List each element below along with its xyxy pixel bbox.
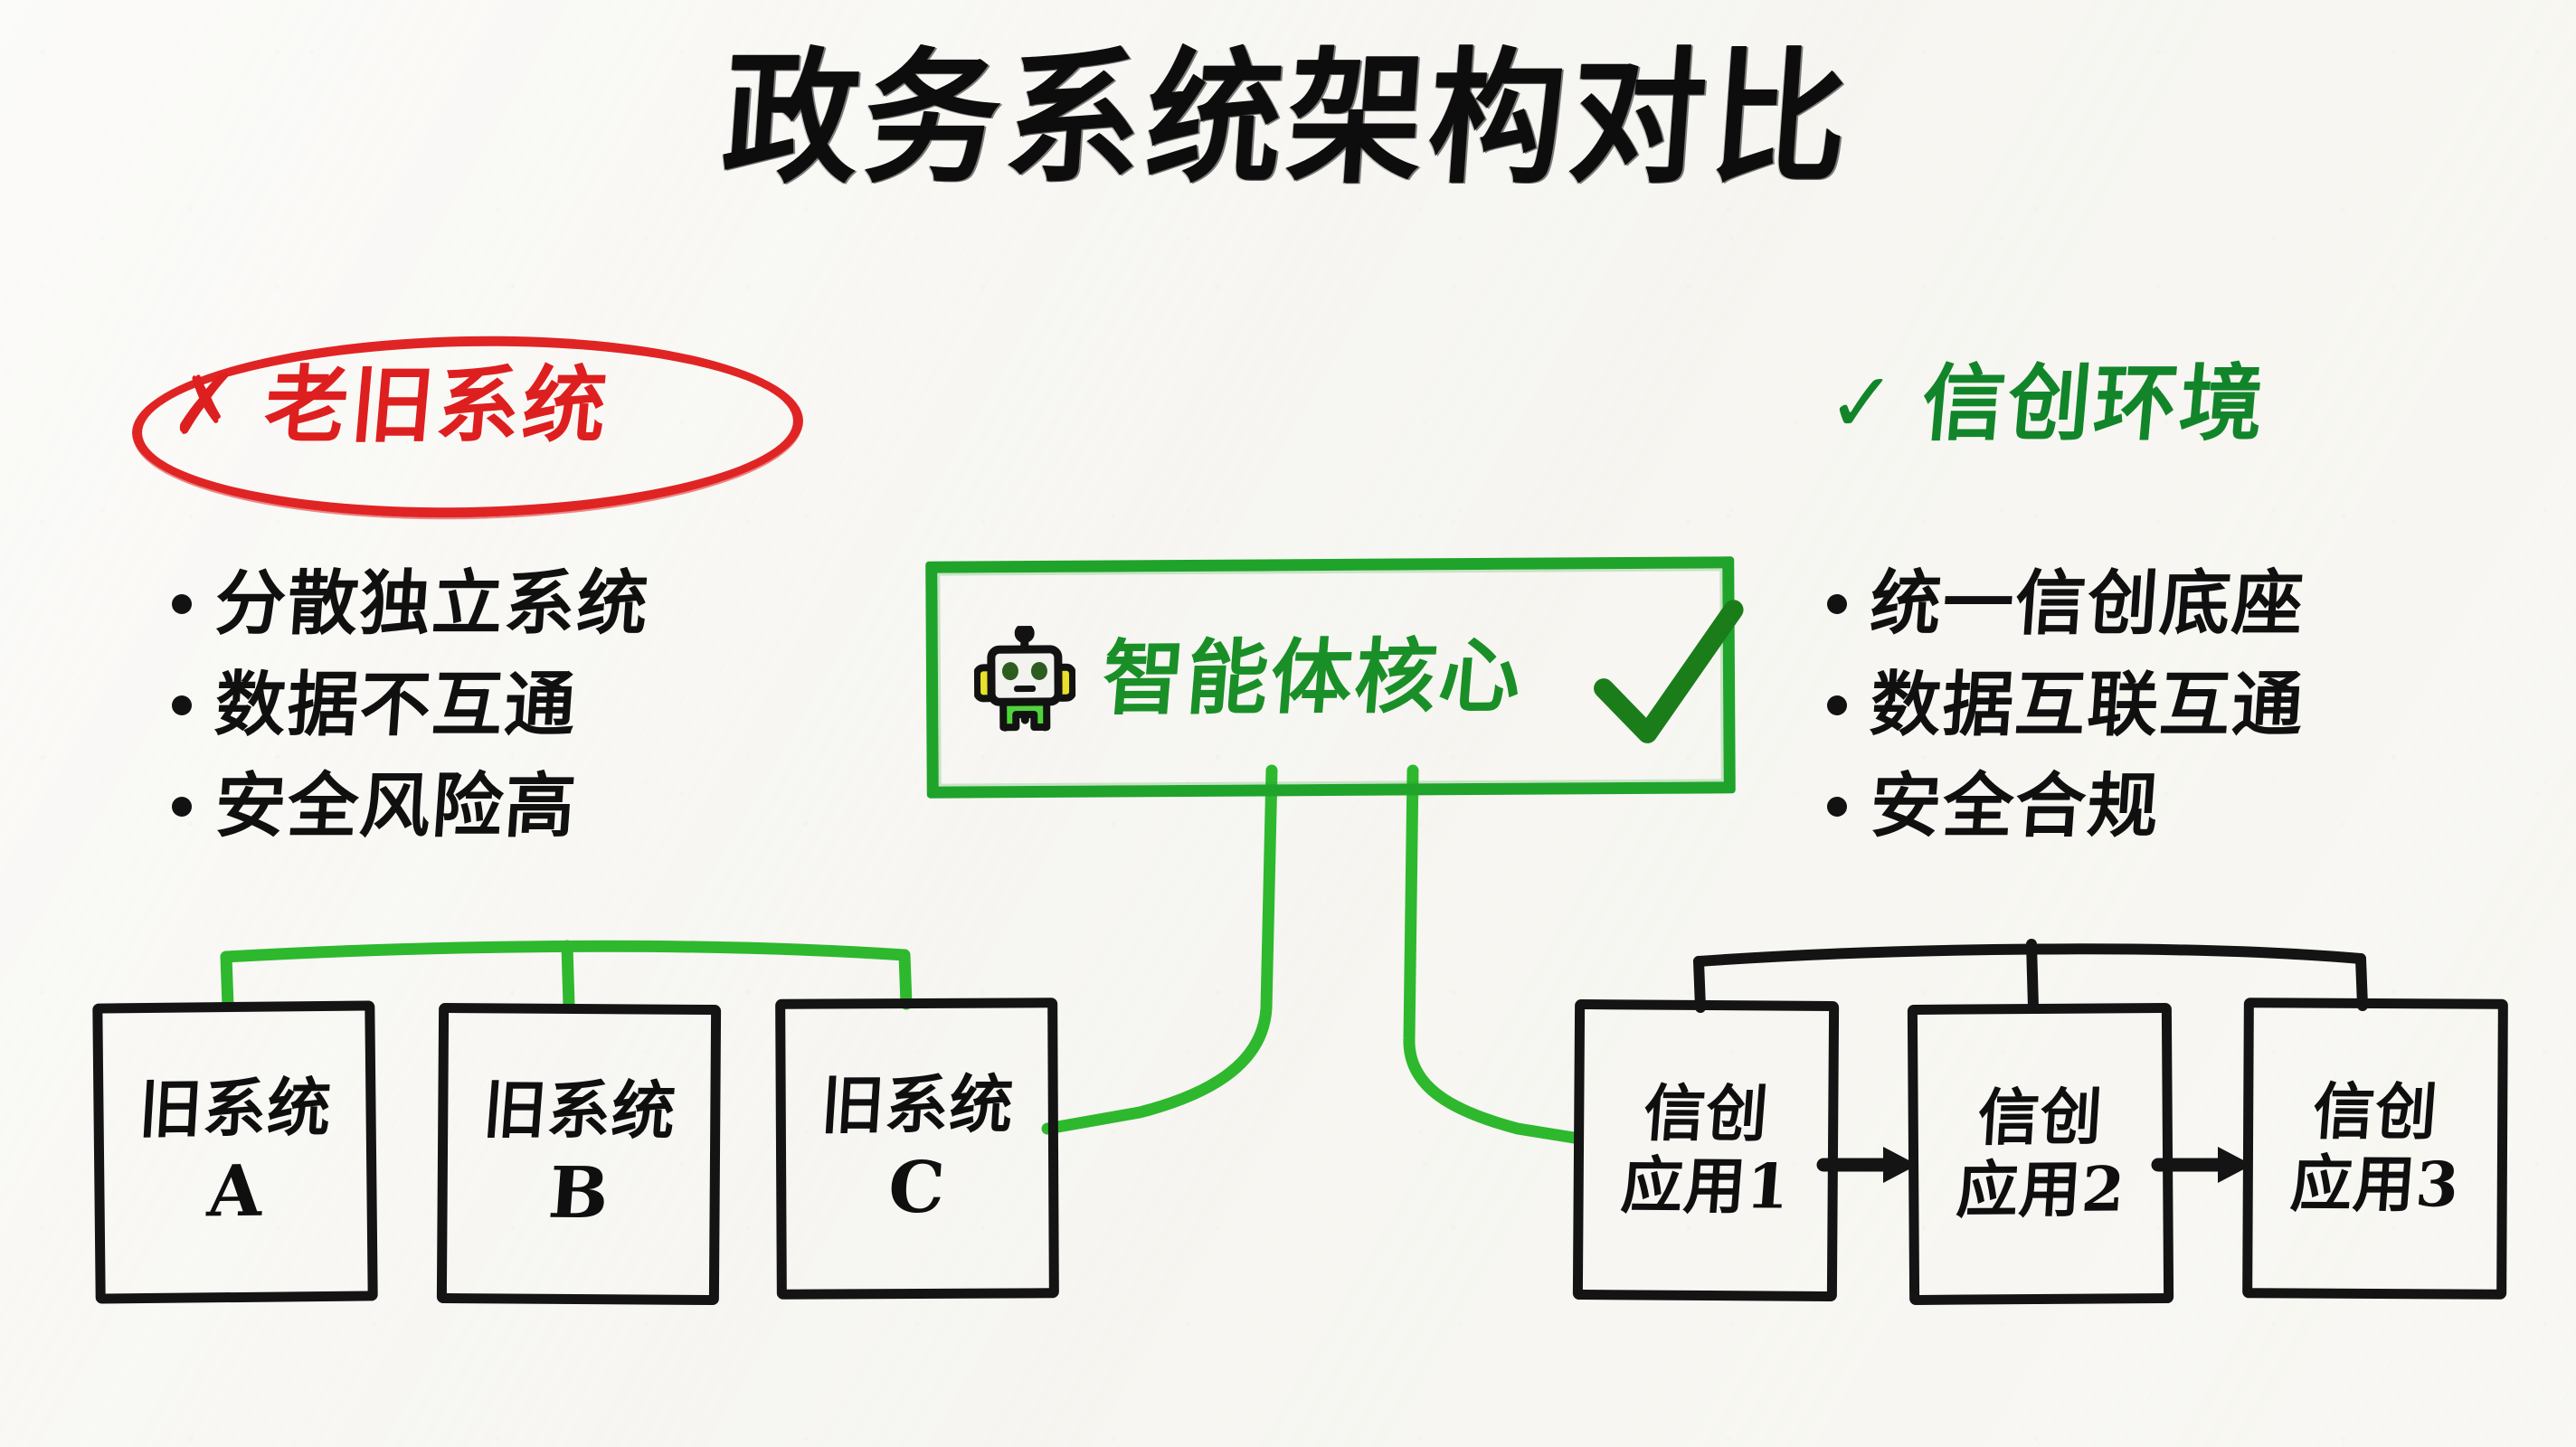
- modern-bullet-label: 统一信创底座: [1868, 569, 2306, 639]
- modern-bullet-label: 数据互联互通: [1868, 670, 2306, 741]
- list-item: 数据互联互通: [1827, 655, 2305, 756]
- modern-bullet-label: 安全合规: [1868, 771, 2162, 842]
- check-mark-icon: ✓: [1827, 362, 1897, 445]
- node-label-line1: 旧系统: [819, 1071, 1016, 1139]
- list-item: 数据不互通: [172, 655, 649, 756]
- legacy-bullet-label: 分散独立系统: [213, 569, 651, 639]
- node-label-line2: 应用2: [1955, 1157, 2127, 1223]
- legacy-bullet-list: 分散独立系统 数据不互通 安全风险高: [172, 553, 649, 857]
- node-modern-3[interactable]: 信创 应用3: [2242, 998, 2508, 1300]
- whiteboard-canvas: 政务系统架构对比 ✗ 老旧系统 ✓ 信创环境 分散独立系统 数据不互通 安全风险…: [0, 0, 2576, 1447]
- node-label-line2: A: [205, 1154, 265, 1229]
- node-label-line2: B: [545, 1157, 611, 1232]
- node-label-line1: 信创: [1641, 1081, 1771, 1147]
- node-modern-2[interactable]: 信创 应用2: [1908, 1003, 2173, 1305]
- check-mark-icon: [1581, 593, 1754, 766]
- list-item: 分散独立系统: [172, 553, 649, 655]
- node-label-line2: 应用3: [2288, 1152, 2462, 1218]
- cross-mark-icon: ✗: [170, 364, 240, 447]
- modern-bullet-list: 统一信创底座 数据互联互通 安全合规: [1827, 553, 2305, 857]
- node-modern-1[interactable]: 信创 应用1: [1573, 999, 1839, 1301]
- legacy-bullet-label: 数据不互通: [213, 670, 579, 741]
- bullet-dot-icon: [1827, 594, 1847, 614]
- node-label-line1: 信创: [2310, 1080, 2439, 1146]
- page-title: 政务系统架构对比: [0, 46, 2576, 192]
- node-legacy-c[interactable]: 旧系统 C: [775, 998, 1059, 1300]
- node-label-line2: C: [886, 1151, 948, 1226]
- bullet-dot-icon: [172, 695, 192, 715]
- legacy-bullet-label: 安全风险高: [213, 771, 579, 842]
- node-label-line2: 应用1: [1619, 1153, 1793, 1219]
- list-item: 安全风险高: [172, 756, 649, 857]
- bullet-dot-icon: [172, 594, 192, 614]
- legacy-heading-label: 老旧系统: [261, 364, 612, 447]
- node-label-line1: 旧系统: [137, 1073, 333, 1142]
- node-legacy-a[interactable]: 旧系统 A: [92, 1000, 377, 1303]
- legacy-column-heading: ✗ 老旧系统: [170, 364, 609, 447]
- agent-to-modern-connector: [1409, 771, 1574, 1138]
- robot-icon: [974, 626, 1076, 733]
- bullet-dot-icon: [1827, 695, 1847, 715]
- agent-core-box[interactable]: 智能体核心: [925, 556, 1736, 798]
- legacy-bracket-connector: [226, 946, 906, 1006]
- modern-heading-label: 信创环境: [1918, 362, 2269, 445]
- bullet-dot-icon: [172, 797, 192, 817]
- node-legacy-b[interactable]: 旧系统 B: [437, 1003, 721, 1305]
- node-label-line1: 信创: [1975, 1084, 2105, 1150]
- agent-core-content: 智能体核心: [938, 623, 1524, 733]
- list-item: 安全合规: [1827, 756, 2305, 857]
- bullet-dot-icon: [1827, 797, 1847, 817]
- agent-core-label: 智能体核心: [1099, 636, 1526, 720]
- agent-to-legacy-connector: [1047, 771, 1272, 1129]
- modern-column-heading: ✓ 信创环境: [1827, 362, 2266, 445]
- node-label-line1: 旧系统: [480, 1076, 678, 1145]
- list-item: 统一信创底座: [1827, 553, 2305, 655]
